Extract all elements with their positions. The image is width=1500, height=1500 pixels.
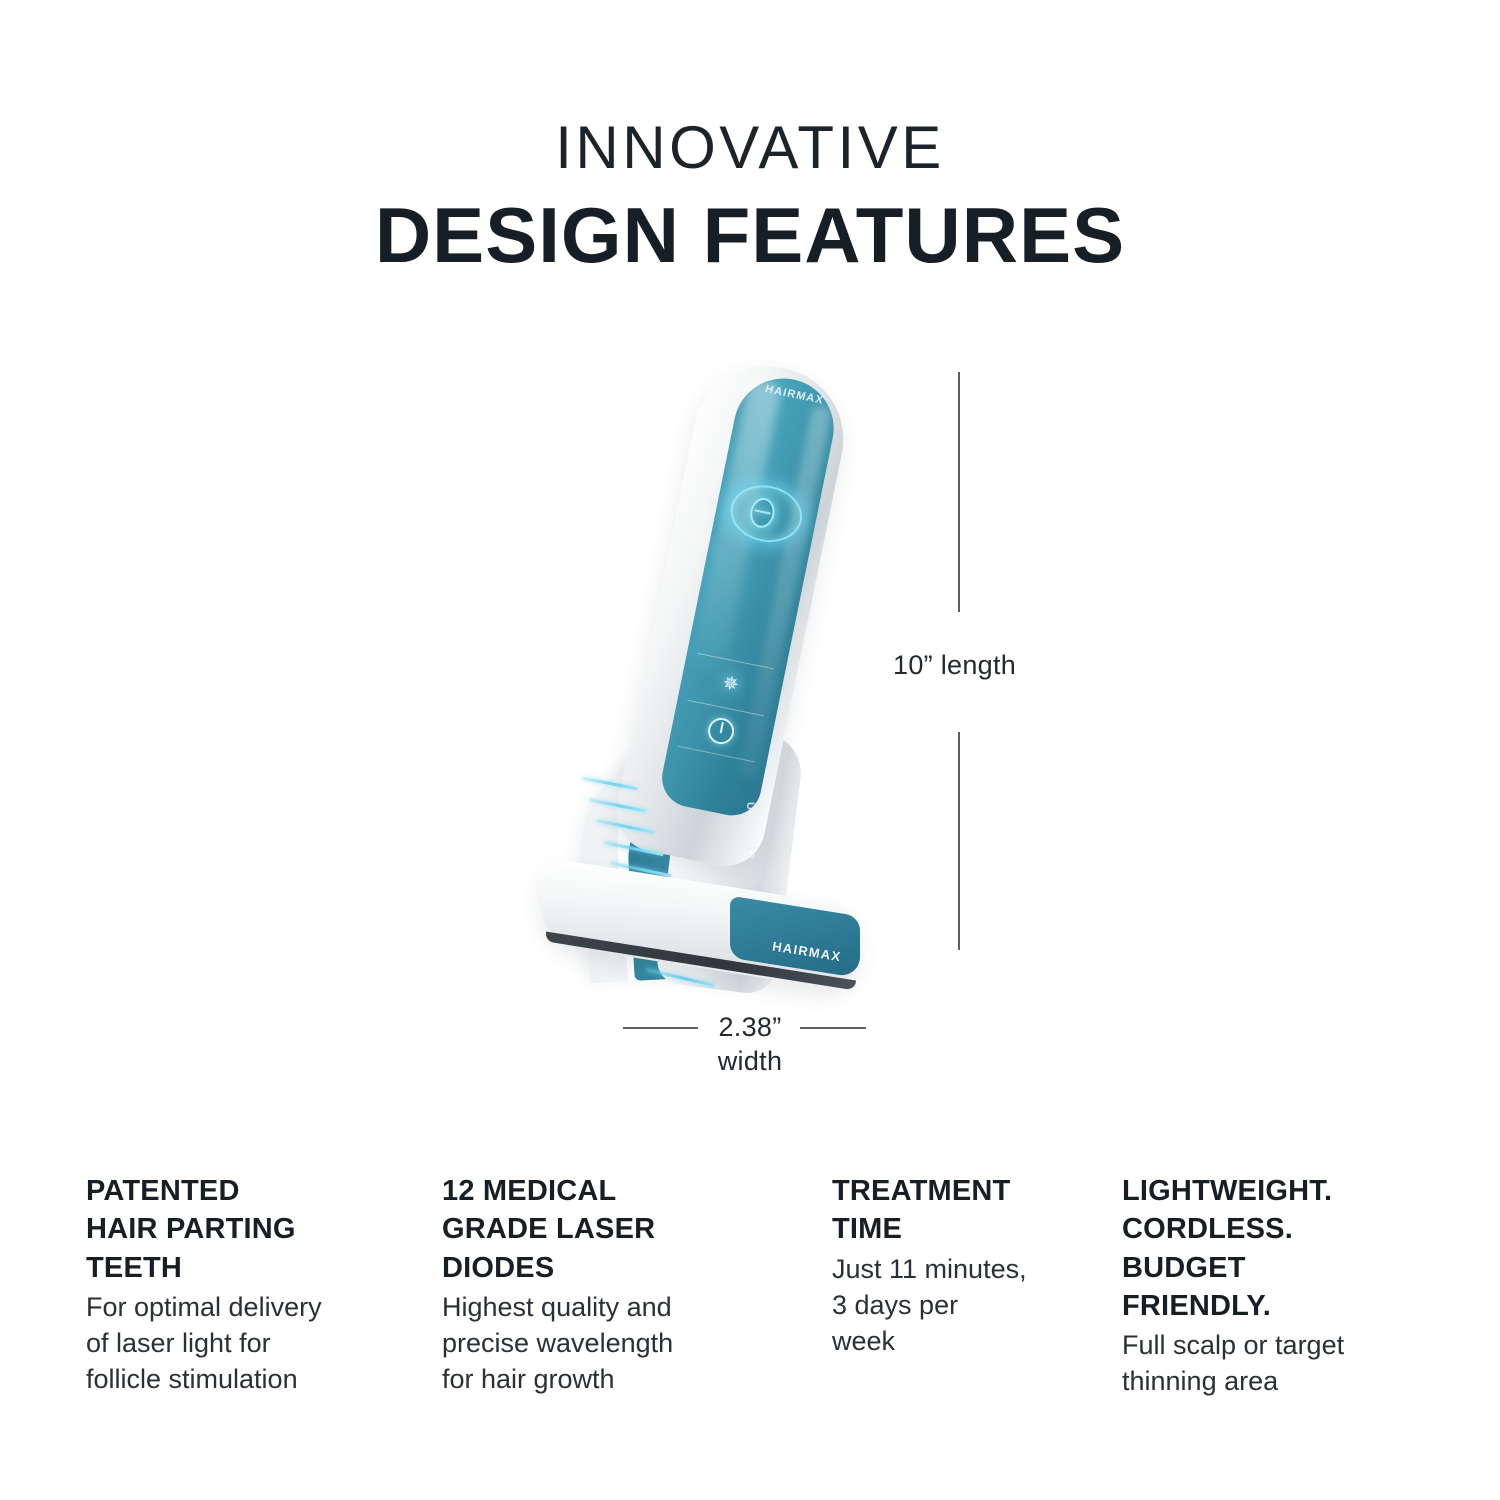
feature-item: 12 MEDICAL GRADE LASER DIODES Highest qu… xyxy=(442,1172,832,1399)
power-icon xyxy=(706,716,737,747)
comb-tooth xyxy=(603,840,663,855)
feature-body: For optimal delivery of laser light for … xyxy=(86,1289,412,1398)
feature-item: PATENTED HAIR PARTING TEETH For optimal … xyxy=(86,1172,442,1399)
feature-title: 12 MEDICAL GRADE LASER DIODES xyxy=(442,1172,802,1287)
comb-tooth xyxy=(589,798,646,812)
feature-title: TREATMENT TIME xyxy=(832,1172,1092,1249)
length-dimension-label: 10” length xyxy=(893,650,1016,681)
model-side-label: Ultima 12 xyxy=(744,802,756,860)
width-dimension-label: width xyxy=(600,1046,900,1077)
feature-title: PATENTED HAIR PARTING TEETH xyxy=(86,1172,412,1287)
length-dimension-line-bottom xyxy=(958,732,960,950)
title-line-1: INNOVATIVE xyxy=(0,118,1500,178)
feature-body: Full scalp or target thinning area xyxy=(1122,1327,1396,1399)
feature-item: TREATMENT TIME Just 11 minutes, 3 days p… xyxy=(832,1172,1122,1399)
laser-star-icon: ✵ xyxy=(720,674,741,695)
feature-body: Just 11 minutes, 3 days per week xyxy=(832,1251,1092,1360)
feature-item: LIGHTWEIGHT. CORDLESS. BUDGET FRIENDLY. … xyxy=(1122,1172,1426,1399)
width-dimension: 2.38” width xyxy=(600,1012,900,1072)
feature-title: LIGHTWEIGHT. CORDLESS. BUDGET FRIENDLY. xyxy=(1122,1172,1396,1325)
length-dimension-line-top xyxy=(958,372,960,612)
stand-base: HAIRMAX xyxy=(540,882,860,978)
comb-tooth xyxy=(596,819,655,834)
width-dimension-value: 2.38” xyxy=(600,1012,900,1043)
page-title: INNOVATIVE DESIGN FEATURES xyxy=(0,118,1500,279)
feature-body: Highest quality and precise wavelength f… xyxy=(442,1289,802,1398)
title-line-2: DESIGN FEATURES xyxy=(0,192,1500,279)
infographic-page: INNOVATIVE DESIGN FEATURES HAIRMAX xyxy=(0,0,1500,1500)
feature-list: PATENTED HAIR PARTING TEETH For optimal … xyxy=(86,1172,1426,1399)
